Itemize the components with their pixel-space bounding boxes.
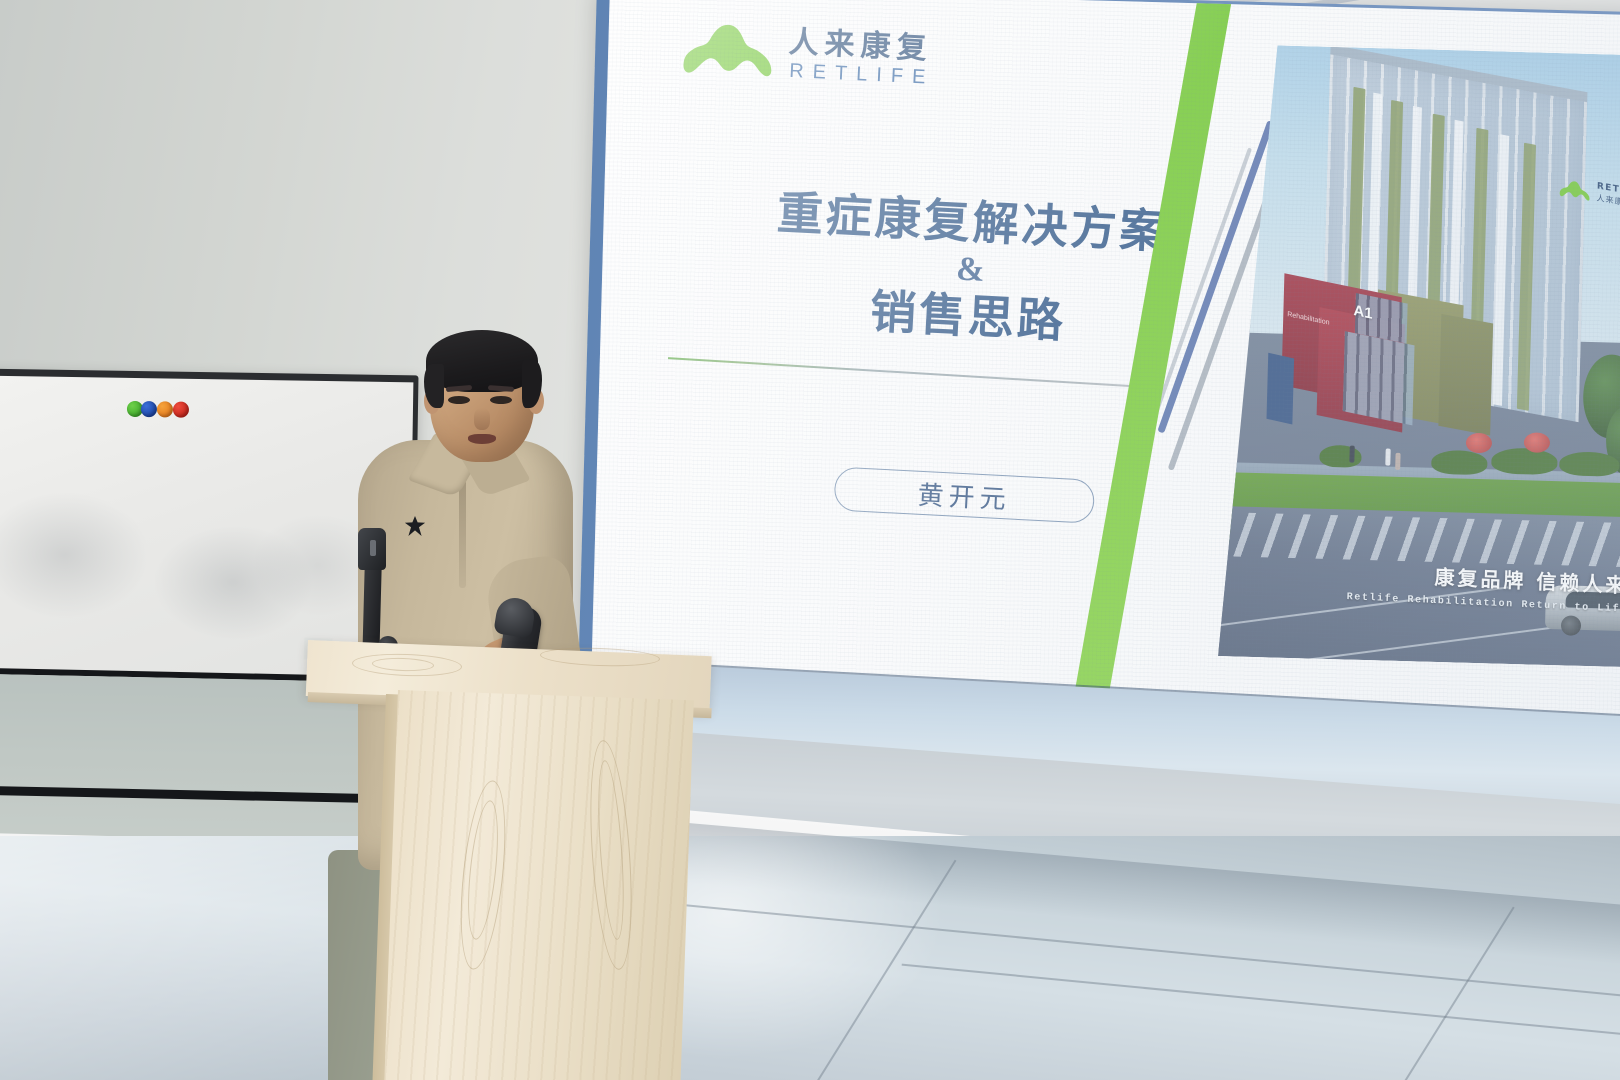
- brand-name-cn: 人来康复: [788, 28, 937, 65]
- slide-brand-logo: 人来康复 RETLIFE: [677, 13, 937, 90]
- scene-root: 人来康复 RETLIFE 重症康复解决方案 & 销售思路 黄开元: [0, 0, 1620, 1080]
- lectern-front-panel[interactable]: [384, 690, 694, 1080]
- shirt-placket: [459, 480, 466, 588]
- pedestrian: [1349, 446, 1354, 463]
- presenter-nose: [474, 408, 490, 430]
- pedestrian: [1395, 453, 1400, 470]
- shrub: [1319, 445, 1362, 468]
- slide-title-divider: [668, 357, 1142, 388]
- red-tree: [1524, 432, 1551, 453]
- presenter-eye: [490, 396, 512, 404]
- photo-road: 康复品牌 信赖人来 Retlife Rehabilitation Return …: [1218, 506, 1620, 668]
- slide-building-photo: RETLIFE 人来康复 Rehabilitation A1: [1218, 44, 1620, 667]
- shrub: [1559, 451, 1620, 477]
- car-wheel: [1561, 615, 1582, 636]
- photo-tagline: 康复品牌 信赖人来 Retlife Rehabilitation Return …: [1346, 557, 1620, 615]
- slide-green-divider: [1057, 0, 1241, 718]
- retlife-wave-logo-icon: [677, 13, 780, 80]
- presenter-mouth: [468, 434, 496, 444]
- presenter-eye: [448, 396, 470, 404]
- led-display[interactable]: 人来康复 RETLIFE 重症康复解决方案 & 销售思路 黄开元: [578, 0, 1620, 724]
- brand-wordmark: 人来康复 RETLIFE: [787, 18, 937, 90]
- entrance-window: [1343, 331, 1415, 425]
- red-tree: [1466, 433, 1493, 454]
- presenter-name: 黄开元: [917, 474, 1012, 516]
- building-label: A1: [1353, 302, 1373, 323]
- mic-stand-clamp-slot: [370, 540, 376, 556]
- shrub: [1431, 450, 1488, 476]
- entrance-block-blue: [1266, 353, 1294, 425]
- pedestrian: [1385, 449, 1390, 466]
- entrance-block-olive: [1438, 314, 1493, 436]
- shrub: [1491, 447, 1558, 475]
- presenter-name-box: 黄开元: [833, 466, 1095, 523]
- slide-canvas[interactable]: 人来康复 RETLIFE 重症康复解决方案 & 销售思路 黄开元: [591, 0, 1620, 718]
